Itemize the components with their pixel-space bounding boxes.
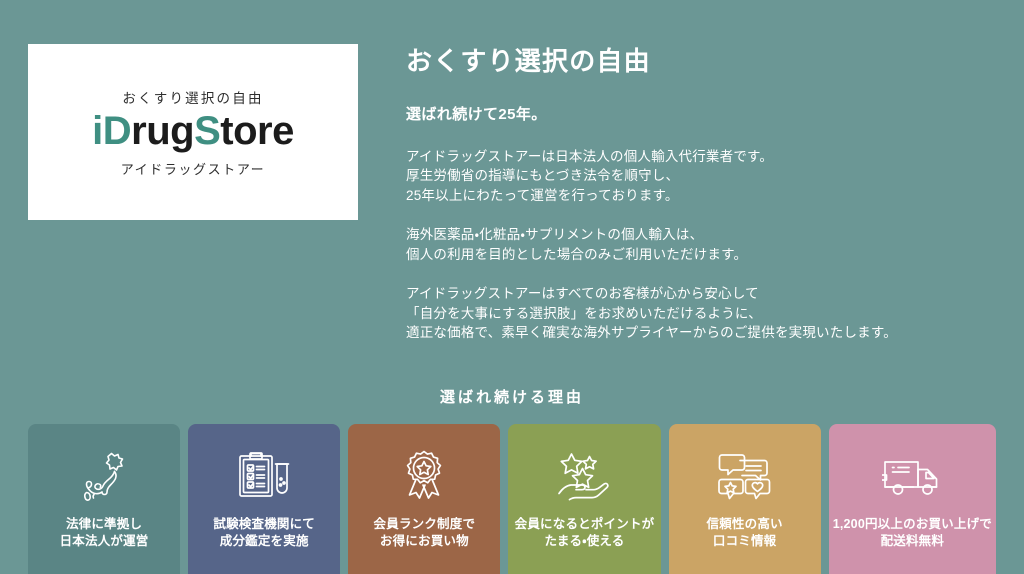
- reason-card-points[interactable]: 会員になるとポイントが たまる・使える: [508, 424, 660, 574]
- paragraph-line: アイドラッグストアーはすべてのお客様が心から安心して: [406, 284, 1006, 304]
- logo-subtitle: アイドラッグストアー: [121, 159, 266, 178]
- reason-card-legal-compliance[interactable]: 法律に準拠し 日本法人が運営: [28, 424, 180, 574]
- logo-tagline: おくすり選択の自由: [122, 87, 263, 107]
- card-label-line: 1,200円以上のお買い上げで: [833, 516, 992, 533]
- paragraph-line: 個人の利用を目的とした場合のみご利用いただけます。: [406, 245, 1006, 265]
- card-label-line: たまる・使える: [515, 533, 655, 550]
- card-label-line: 法律に準拠し: [60, 516, 149, 533]
- logo-letters-rug: rug: [131, 109, 194, 153]
- hero-paragraph-3: アイドラッグストアーはすべてのお客様が心から安心して 「自分を大事にする選択肢」…: [406, 284, 1006, 343]
- card-label-line: 配送料無料: [833, 533, 992, 550]
- logo-letter-i: i: [92, 109, 103, 153]
- hero-lede: 選ばれ続けて25年。: [406, 105, 1006, 125]
- speech-bubbles-icon: [714, 448, 776, 506]
- brand-logo-panel: おくすり選択の自由 iDrugStore アイドラッグストアー: [28, 44, 358, 220]
- card-label-line: 信頼性の高い: [707, 516, 783, 533]
- paragraph-line: 適正な価格で、素早く確実な海外サプライヤーからのご提供を実現いたします。: [406, 323, 1006, 343]
- logo-letter-d: D: [103, 109, 131, 153]
- delivery-truck-icon: [881, 448, 943, 506]
- hero-paragraph-2: 海外医薬品・化粧品・サプリメントの個人輸入は、 個人の利用を目的とした場合のみご…: [406, 225, 1006, 264]
- reason-card-label: 会員になるとポイントが たまる・使える: [511, 516, 659, 550]
- reason-card-label: 1,200円以上のお買い上げで 配送料無料: [829, 516, 996, 550]
- reason-card-lab-testing[interactable]: 試験検査機関にて 成分鑑定を実施: [188, 424, 340, 574]
- reasons-card-row: 法律に準拠し 日本法人が運営: [28, 424, 996, 574]
- page-title: おくすり選択の自由: [406, 46, 1006, 77]
- paragraph-line: 25年以上にわたって運営を行っております。: [406, 186, 1006, 206]
- card-label-line: お得にお買い物: [374, 533, 476, 550]
- card-label-line: 口コミ情報: [707, 533, 783, 550]
- card-label-line: 日本法人が運営: [60, 533, 149, 550]
- landing-page: おくすり選択の自由 iDrugStore アイドラッグストアー おくすり選択の自…: [0, 0, 1024, 574]
- hero-section: おくすり選択の自由 iDrugStore アイドラッグストアー おくすり選択の自…: [0, 0, 1024, 418]
- reason-card-label: 会員ランク制度で お得にお買い物: [370, 516, 480, 550]
- japan-map-icon: [73, 448, 135, 506]
- reason-card-reviews[interactable]: 信頼性の高い 口コミ情報: [669, 424, 821, 574]
- paragraph-line: 「自分を大事にする選択肢」をお求めいただけるように、: [406, 304, 1006, 324]
- hero-copy: おくすり選択の自由 選ばれ続けて25年。 アイドラッグストアーは日本法人の個人輸…: [406, 46, 1006, 343]
- card-label-line: 会員ランク制度で: [374, 516, 476, 533]
- card-label-line: 試験検査機関にて: [213, 516, 315, 533]
- award-ribbon-icon: [393, 448, 455, 506]
- paragraph-line: 海外医薬品・化粧品・サプリメントの個人輸入は、: [406, 225, 1006, 245]
- card-label-line: 会員になるとポイントが: [515, 516, 655, 533]
- reason-card-label: 試験検査機関にて 成分鑑定を実施: [209, 516, 319, 550]
- reason-card-member-rank[interactable]: 会員ランク制度で お得にお買い物: [348, 424, 500, 574]
- reason-card-label: 信頼性の高い 口コミ情報: [703, 516, 787, 550]
- reasons-section-title: 選ばれ続ける理由: [0, 386, 1024, 407]
- reason-card-label: 法律に準拠し 日本法人が運営: [56, 516, 153, 550]
- reason-card-free-shipping[interactable]: 1,200円以上のお買い上げで 配送料無料: [829, 424, 996, 574]
- paragraph-line: アイドラッグストアーは日本法人の個人輸入代行業者です。: [406, 147, 1006, 167]
- logo-letters-tore: tore: [220, 109, 294, 153]
- clipboard-testtube-icon: [233, 448, 295, 506]
- hero-paragraph-1: アイドラッグストアーは日本法人の個人輸入代行業者です。 厚生労働省の指導にもとづ…: [406, 147, 1006, 206]
- logo-letter-s: S: [194, 109, 220, 153]
- card-label-line: 成分鑑定を実施: [213, 533, 315, 550]
- logo-wordmark: iDrugStore: [92, 109, 294, 153]
- paragraph-line: 厚生労働省の指導にもとづき法令を順守し、: [406, 166, 1006, 186]
- hand-stars-icon: [553, 448, 615, 506]
